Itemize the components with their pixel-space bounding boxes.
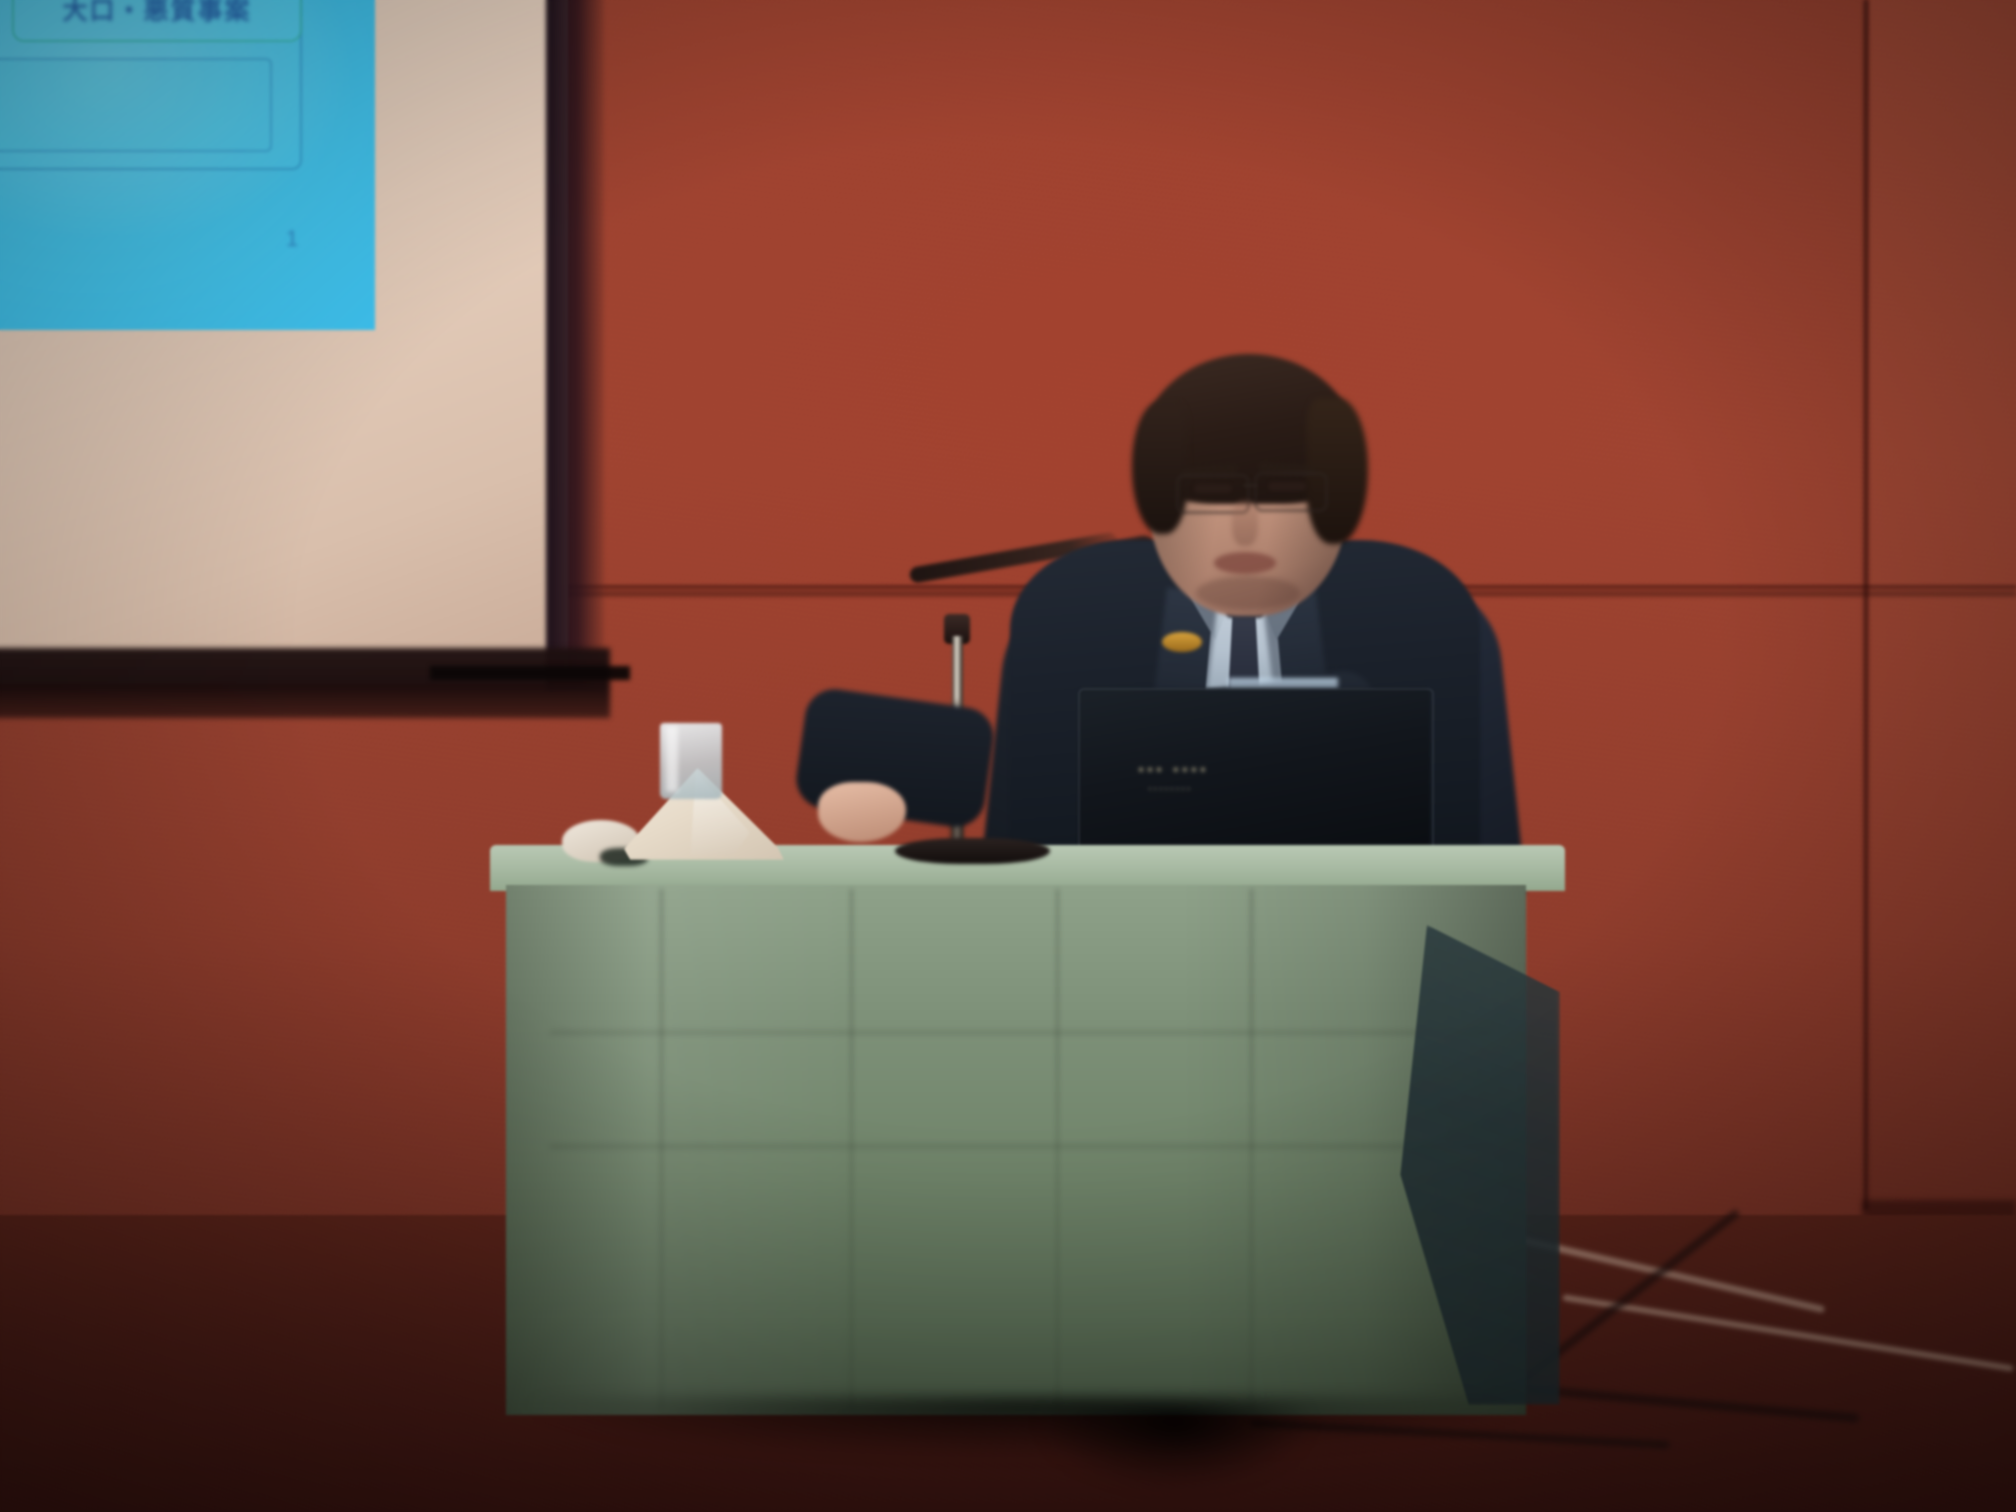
tablecloth-fold-2 [850, 889, 853, 1409]
screen-bottom-edge [0, 648, 610, 718]
tablecloth-crease-2 [550, 1145, 1490, 1148]
tablecloth-shading [506, 885, 1526, 1415]
screen-bottom-rail [430, 666, 630, 680]
eye-right [1268, 482, 1306, 491]
slide-page-number: 1 [286, 226, 298, 252]
wall-vertical-seam [1862, 0, 1870, 1210]
table-leg-shadow [1010, 1405, 1340, 1489]
microphone-base [895, 838, 1050, 864]
wall-right-panel [1870, 0, 2016, 1215]
slide-box-major-cases: 大口・悪質事案 [12, 0, 302, 42]
screen-right-edge [546, 0, 604, 690]
glasses-bridge [1243, 484, 1257, 487]
tablecloth-fold-1 [660, 889, 663, 1409]
projection-screen: 消費税の適正課税 大口・悪質事案 貢献 。 1 [0, 0, 610, 702]
tablecloth-fold-3 [1056, 889, 1059, 1409]
eye-left [1194, 484, 1232, 493]
slide-box-major-cases-label: 大口・悪質事案 [62, 0, 251, 27]
slide-lower-box [0, 58, 272, 152]
chin-shading [1196, 576, 1300, 610]
tablecloth-crease-1 [550, 1031, 1490, 1034]
mouth [1214, 552, 1276, 574]
water-glass-highlight [666, 726, 678, 792]
presenter-table [490, 845, 1565, 1425]
lapel-badge-icon [1162, 632, 1202, 652]
projected-slide: 消費税の適正課税 大口・悪質事案 貢献 。 1 [0, 0, 375, 330]
laptop-lid-sublabel: ▪▪▪▪▪▪▪▪ [1148, 784, 1298, 798]
tablecloth-fold-4 [1250, 889, 1253, 1409]
laptop-lid-label: ▪▪▪ ▪▪▪▪ [1138, 760, 1308, 786]
photo-scene: 消費税の適正課税 大口・悪質事案 貢献 。 1 [0, 0, 2016, 1512]
hair-left-side [1132, 402, 1188, 534]
nose [1232, 500, 1258, 546]
laptop: ▪▪▪ ▪▪▪▪ ▪▪▪▪▪▪▪▪ [1078, 688, 1438, 870]
glasses-lens-right [1254, 472, 1328, 512]
